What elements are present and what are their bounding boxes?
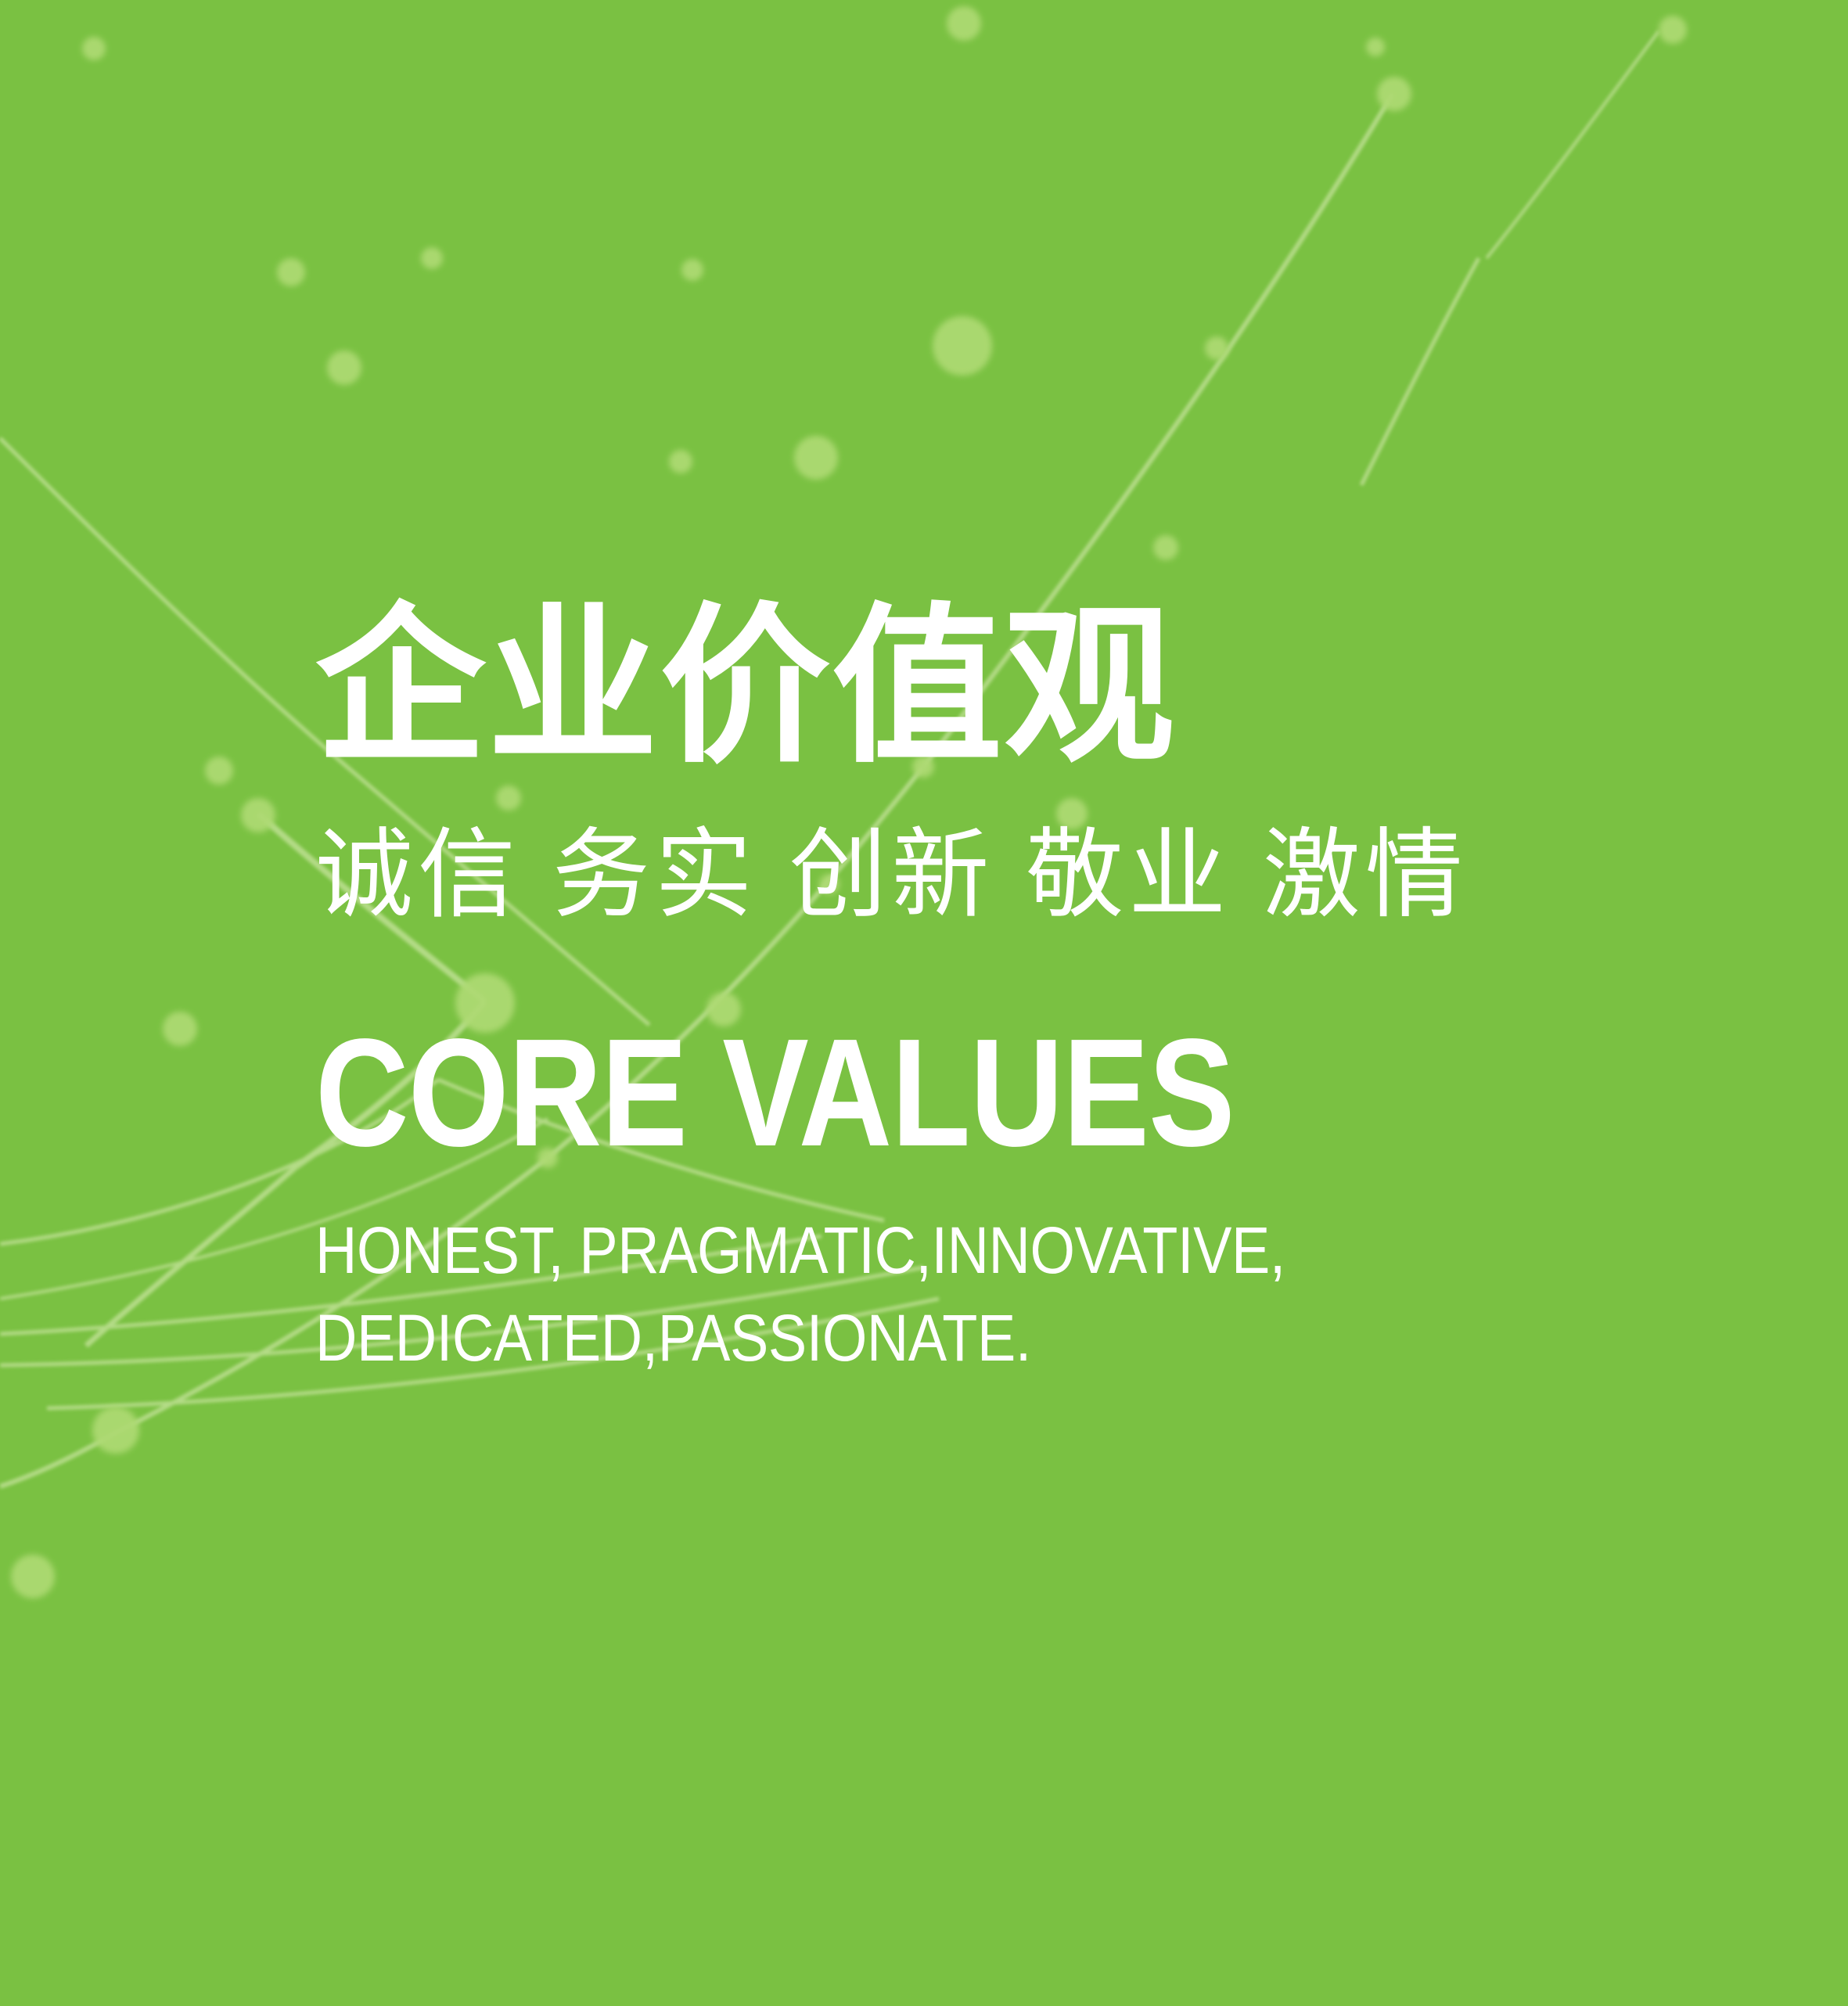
node-dot [11,1555,55,1598]
page-title-en: CORE VALUES [315,1016,1505,1170]
core-values-poster: 企业价值观 诚信 务实 创新 敬业 激情 CORE VALUES HONEST,… [0,0,1848,2006]
node-dot [1205,336,1228,360]
node-dot [277,258,305,286]
node-dot [933,316,992,376]
node-dot [92,1407,139,1454]
node-dot [947,6,981,41]
node-dot [1153,535,1178,560]
poster-text-block: 企业价值观 诚信 务实 创新 敬业 激情 CORE VALUES HONEST,… [315,602,1724,1382]
node-dot [1659,16,1687,44]
node-dot [1366,38,1385,56]
node-dot [82,37,106,60]
body-line-1: HONEST, PRAGMATIC,INNOVATIVE, [315,1207,1555,1295]
node-dot [669,450,692,473]
body-text-en: HONEST, PRAGMATIC,INNOVATIVE, DEDICATED,… [315,1207,1555,1382]
node-dot [1377,77,1411,111]
body-line-2: DEDICATED,PASSIONATE. [315,1295,1555,1382]
node-dot [794,436,838,480]
subtitle-cn: 诚信 务实 创新 敬业 激情 [315,826,1724,924]
node-dot [421,247,443,269]
node-dot [205,757,233,785]
node-dot [327,351,361,385]
node-dot [681,259,703,281]
page-title-cn: 企业价值观 [315,602,1724,773]
node-dot [163,1012,197,1046]
node-dot [241,798,275,832]
